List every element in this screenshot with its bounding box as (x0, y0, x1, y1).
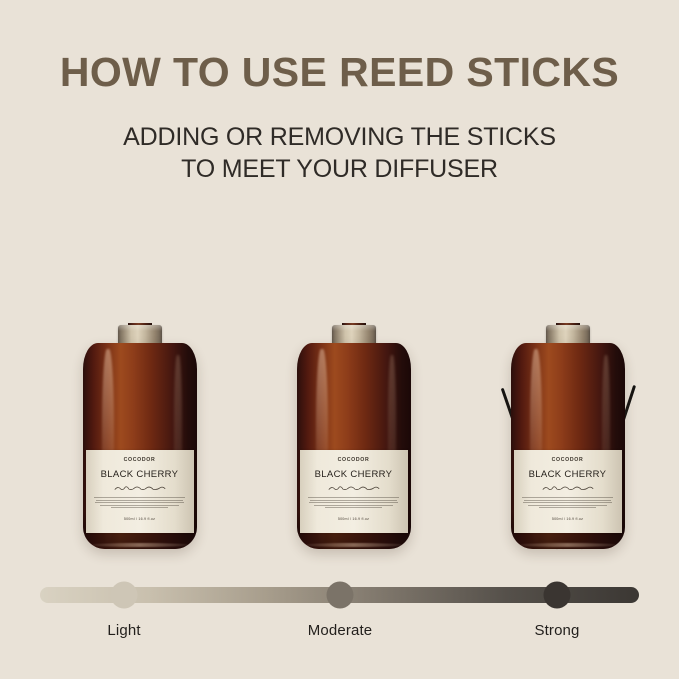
diffuser-strong: COCODOR BLACK CHERRY A scent for every m… (480, 129, 655, 549)
bottle-body: COCODOR BLACK CHERRY A scent for every m… (83, 343, 197, 549)
intensity-dot-strong[interactable] (544, 582, 571, 609)
bottle-moderate: COCODOR BLACK CHERRY A scent for every m… (266, 293, 441, 549)
tagline-script-icon (541, 485, 595, 491)
bottle-strong: COCODOR BLACK CHERRY A scent for every m… (480, 293, 655, 549)
bottle-base-rim (303, 543, 403, 547)
bottle-base-rim (517, 543, 617, 547)
label-scent: BLACK CHERRY (514, 469, 622, 480)
diffuser-moderate: COCODOR BLACK CHERRY A scent for every m… (266, 129, 441, 549)
page-title: HOW TO USE REED STICKS (0, 52, 679, 94)
intensity-label-light: Light (107, 622, 140, 639)
label-scent: BLACK CHERRY (86, 469, 194, 480)
label-volume: 500ml / 16.9 fl.oz (300, 517, 408, 521)
label-tagline: A scent for every moment (300, 485, 408, 492)
bottle-body: COCODOR BLACK CHERRY A scent for every m… (511, 343, 625, 549)
tagline-script-icon (113, 485, 167, 491)
infographic-canvas: HOW TO USE REED STICKS ADDING OR REMOVIN… (0, 0, 679, 679)
intensity-label-moderate: Moderate (308, 622, 373, 639)
label-tagline: A scent for every moment (514, 485, 622, 492)
label-brand: COCODOR (300, 457, 408, 463)
label-volume: 500ml / 16.9 fl.oz (514, 517, 622, 521)
intensity-dot-light[interactable] (111, 582, 138, 609)
bottle-base-rim (89, 543, 189, 547)
label-volume: 500ml / 16.9 fl.oz (86, 517, 194, 521)
intensity-label-strong: Strong (534, 622, 579, 639)
label-brand: COCODOR (514, 457, 622, 463)
label-tagline: A scent for every moment (86, 485, 194, 492)
intensity-dot-moderate[interactable] (327, 582, 354, 609)
product-label: COCODOR BLACK CHERRY A scent for every m… (514, 450, 622, 533)
label-description (308, 497, 399, 510)
label-description (94, 497, 185, 510)
label-brand: COCODOR (86, 457, 194, 463)
product-label: COCODOR BLACK CHERRY A scent for every m… (86, 450, 194, 533)
tagline-script-icon (327, 485, 381, 491)
bottle-light: COCODOR BLACK CHERRY A scent for every m… (52, 293, 227, 549)
diffuser-light: COCODOR BLACK CHERRY A scent for every m… (52, 129, 227, 549)
label-scent: BLACK CHERRY (300, 469, 408, 480)
product-label: COCODOR BLACK CHERRY A scent for every m… (300, 450, 408, 533)
bottle-body: COCODOR BLACK CHERRY A scent for every m… (297, 343, 411, 549)
label-description (522, 497, 613, 510)
